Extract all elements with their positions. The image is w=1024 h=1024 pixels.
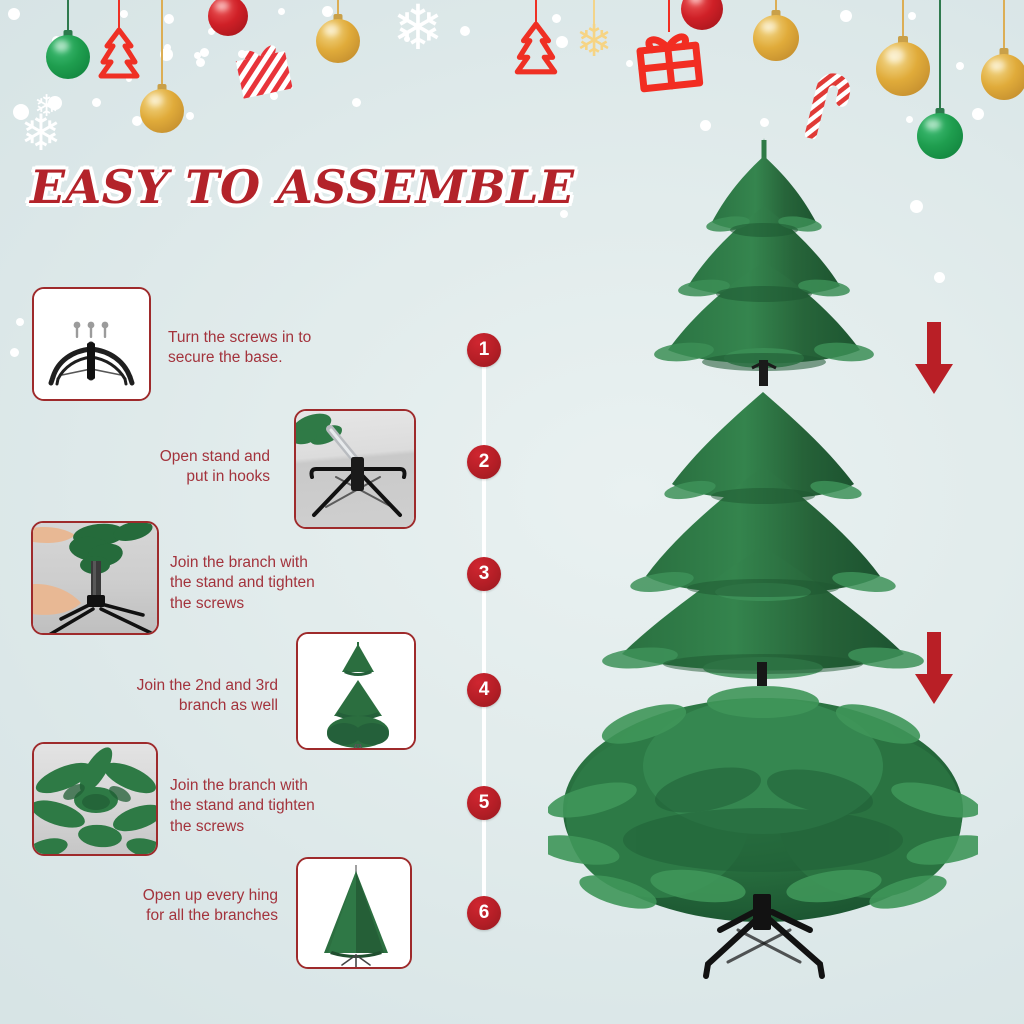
step-card-3[interactable] — [31, 521, 159, 635]
snow-dot — [934, 272, 945, 283]
ornament-ball-body — [208, 0, 248, 36]
ornament-string — [161, 0, 163, 88]
tree-section-bottom-with-stand — [548, 680, 978, 1000]
step-badge-2[interactable]: 2 — [467, 445, 501, 479]
ornament-green-ball — [912, 0, 968, 168]
snow-dot — [460, 26, 470, 36]
gold-snowflake-icon: ❄ — [576, 20, 613, 64]
step-text-4: Join the 2nd and 3rd branch as well — [88, 676, 278, 717]
tree-section-middle — [588, 386, 938, 686]
snow-dot — [626, 60, 633, 67]
assembly-arrow-lower — [912, 630, 956, 708]
striped-gift-icon — [229, 35, 298, 104]
snow-dot — [278, 8, 285, 15]
step-card-4[interactable] — [296, 632, 416, 750]
timeline-track — [482, 330, 486, 930]
snow-dot — [760, 118, 769, 127]
ornament-gold-ball — [976, 0, 1024, 108]
ornament-ball-body — [46, 35, 90, 79]
snow-dot — [16, 318, 24, 326]
step-card-6[interactable] — [296, 857, 412, 969]
hands-attach-illustration — [33, 523, 159, 635]
step-badge-5[interactable]: 5 — [467, 786, 501, 820]
ornament-red-ball — [674, 0, 730, 46]
ornament-ball-body — [140, 89, 184, 133]
step-text-5: Join the branch with the stand and tight… — [170, 776, 400, 837]
step-badge-3[interactable]: 3 — [467, 557, 501, 591]
step-text-6: Open up every hing for all the branches — [82, 886, 278, 927]
tree-outline-icon — [513, 20, 559, 78]
ornament-gold-ball — [310, 0, 366, 96]
ornament-string — [67, 0, 69, 34]
ornament-ball-body — [753, 15, 799, 61]
snow-dot — [8, 8, 20, 20]
step-card-2[interactable] — [294, 409, 416, 529]
step-text-3: Join the branch with the stand and tight… — [170, 553, 400, 614]
snow-dot — [194, 52, 201, 59]
tree-stand-with-screws-illustration — [42, 299, 145, 394]
ornament-string — [902, 0, 904, 40]
white-snowflake-icon: ❄ — [34, 92, 59, 122]
assembly-arrow-upper — [912, 320, 956, 398]
ornament-gold-ball — [748, 0, 804, 98]
white-snowflake-icon: ❄ — [392, 0, 444, 60]
step-card-1[interactable] — [32, 287, 151, 401]
assembled-tree-illustration — [298, 859, 412, 969]
ornament-ball-body — [917, 113, 963, 159]
ornament-red-tree-outline — [508, 0, 564, 100]
ornament-string — [939, 0, 941, 112]
snow-dot — [972, 108, 984, 120]
candy-cane-icon — [799, 60, 861, 146]
step-card-5[interactable] — [32, 742, 158, 856]
ornament-ball-body — [681, 0, 723, 30]
ornament-ball-body — [316, 19, 360, 63]
ornament-string — [1003, 0, 1005, 52]
infographic-canvas: ❄ ❄ — [0, 0, 1024, 1024]
branch-closeup-photo — [34, 744, 156, 854]
ornament-gold-ball — [134, 0, 190, 140]
ornament-ball-body — [981, 54, 1024, 100]
step-badge-6[interactable]: 6 — [467, 896, 501, 930]
ornament-gold-snowflake: ❄ — [566, 0, 622, 98]
open-stand-illustration — [296, 411, 416, 529]
hands-attaching-branch-photo — [33, 523, 157, 633]
snow-dot — [196, 58, 205, 67]
step-badge-1[interactable]: 1 — [467, 333, 501, 367]
tree-section-top — [618, 136, 908, 394]
open-stand-photo — [296, 411, 414, 527]
snow-dot — [910, 200, 923, 213]
step-badge-4[interactable]: 4 — [467, 673, 501, 707]
step-text-2: Open stand and put in hooks — [80, 447, 270, 488]
page-title: EASY TO ASSEMBLE — [30, 160, 575, 214]
branch-closeup-illustration — [34, 744, 158, 856]
step-text-1: Turn the screws in to secure the base. — [168, 328, 388, 369]
ornament-striped-gift — [232, 40, 294, 120]
snow-dot — [352, 98, 361, 107]
three-tree-sections-illustration — [298, 634, 416, 750]
snow-dot — [10, 348, 19, 357]
snow-dot — [840, 10, 852, 22]
snow-dot — [700, 120, 711, 131]
